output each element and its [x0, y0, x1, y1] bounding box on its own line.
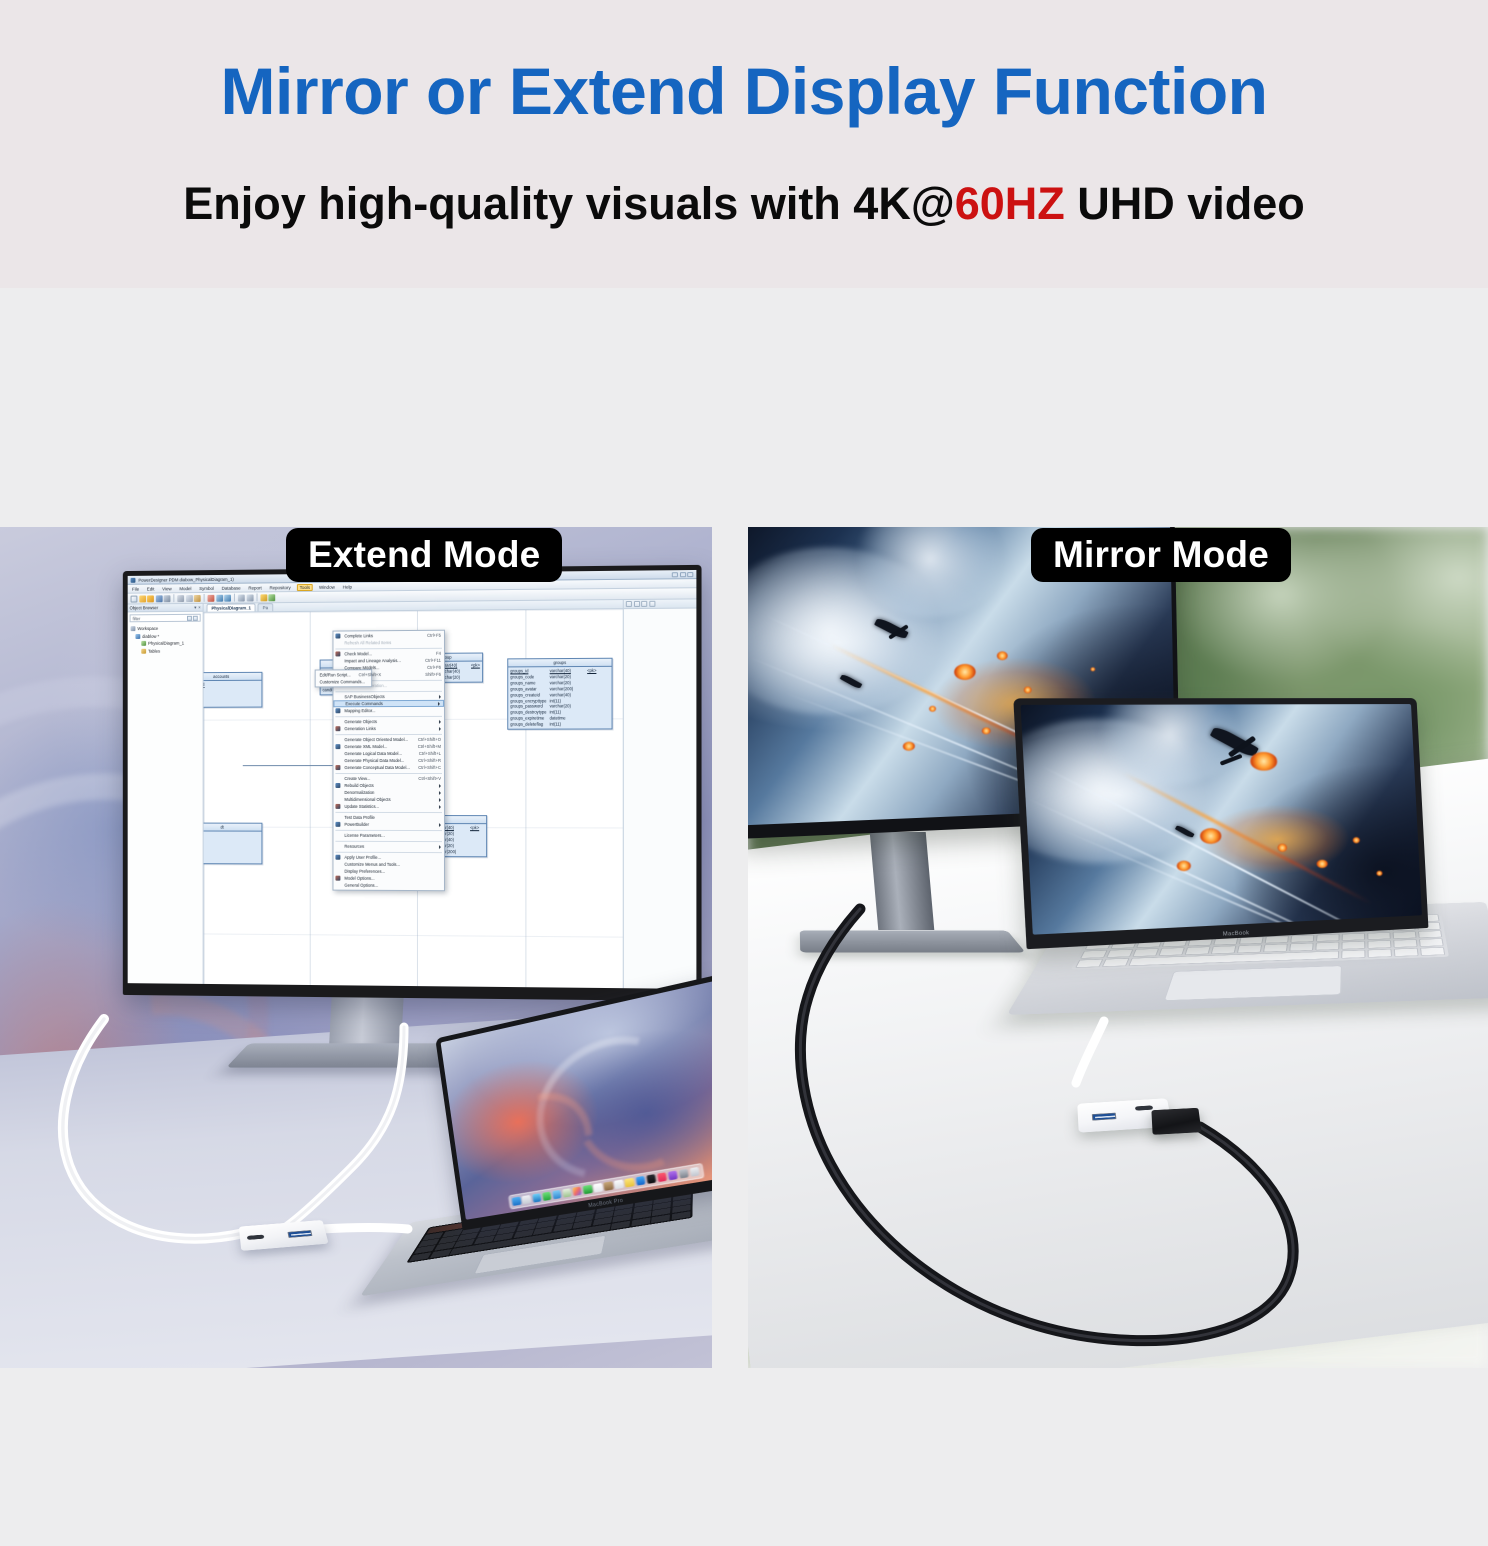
- messages-icon[interactable]: [542, 1191, 552, 1201]
- filter-placeholder: filter: [133, 616, 141, 621]
- redo-icon[interactable]: [224, 594, 231, 601]
- laptop-lid-right: MacBook: [1013, 698, 1428, 949]
- key: [1341, 950, 1366, 959]
- diagram-icon: [141, 641, 146, 646]
- key: [1184, 947, 1211, 955]
- key: [1367, 940, 1392, 948]
- entity-columns: groups_idvarchar(40)<pk> groups_codevarc…: [508, 667, 611, 729]
- tab-physicaldiagram-1[interactable]: PhysicalDiagram_1: [207, 603, 256, 611]
- menu-item-shortcut: Shift+F6: [417, 672, 441, 677]
- calendar-icon[interactable]: [593, 1183, 603, 1193]
- diagram-canvas[interactable]: accounts accounts_id accounts accounts a…: [204, 609, 623, 988]
- right-monitor-base: [800, 930, 1026, 952]
- key: [1237, 945, 1263, 953]
- submenu-item-label: Edit/Run Script...: [320, 672, 351, 677]
- explosion-8: [903, 742, 915, 751]
- explosion-7: [1090, 667, 1095, 671]
- explosion-2: [997, 652, 1008, 661]
- explosion-4: [1278, 844, 1288, 853]
- menu-item-label: Generation Links: [344, 726, 375, 731]
- submenu-arrow-icon: [439, 694, 441, 698]
- menu-item-label: Execute Commands: [345, 701, 382, 706]
- right-monitor-stand: [870, 832, 935, 930]
- menu-item-shortcut: Ctrl+F5: [419, 633, 441, 638]
- key: [1263, 944, 1288, 952]
- photos-icon[interactable]: [572, 1186, 582, 1196]
- key: [1158, 948, 1185, 956]
- app-body: Object Browser ▾ × filter: [128, 599, 697, 989]
- key: [1106, 949, 1134, 957]
- external-monitor-left: PowerDesigner PDM diabow_PhysicalDiagram…: [123, 565, 702, 1001]
- explosion-3: [1177, 860, 1192, 871]
- menu-item-shortcut: Ctrl+Shift+O: [410, 737, 441, 742]
- tables-folder-icon: [141, 648, 146, 653]
- new-icon[interactable]: [131, 595, 138, 602]
- menu-item-label: Check Model...: [344, 651, 372, 656]
- menu-item-icon: [335, 783, 340, 788]
- save-icon[interactable]: [147, 595, 154, 602]
- tab-secondary[interactable]: Pa: [258, 603, 273, 611]
- menu-item-label: Display Preferences...: [344, 869, 385, 874]
- menu-item-label: Denormalization: [344, 790, 374, 795]
- laptop-brand-label: MacBook: [1223, 930, 1250, 938]
- tree-item-model[interactable]: diablow *: [131, 633, 200, 638]
- menu-item-label: Generate Physical Data Model...: [344, 758, 404, 763]
- extend-mode-badge: Extend Mode: [286, 528, 562, 582]
- key: [1316, 934, 1340, 942]
- menu-item-label: Multidimensional Objects: [344, 797, 390, 802]
- menu-item-license-parameters[interactable]: License Parameters...: [333, 832, 444, 839]
- menu-separator: [335, 647, 442, 649]
- key: [1080, 950, 1108, 958]
- hdmi-connector-plug: [1151, 1108, 1201, 1135]
- menu-item-icon: [335, 651, 340, 656]
- menu-item-mapping-editor[interactable]: Mapping Editor...: [333, 707, 444, 714]
- key: [1341, 941, 1365, 949]
- menu-database[interactable]: Database: [220, 584, 242, 591]
- filter-refresh-icon[interactable]: [193, 615, 198, 620]
- launchpad-icon[interactable]: [522, 1195, 532, 1205]
- menu-separator: [335, 772, 442, 773]
- object-tree[interactable]: Workspace diablow * PhysicalDiagram_1: [128, 624, 203, 656]
- menu-item-label: Generate XML Model...: [344, 744, 387, 749]
- diagram-palette-pane: [623, 599, 697, 989]
- maximize-icon[interactable]: [679, 572, 685, 577]
- podcasts-icon[interactable]: [668, 1170, 679, 1181]
- undo-icon[interactable]: [216, 594, 223, 601]
- cut-icon[interactable]: [177, 595, 184, 602]
- explosion-7: [1376, 870, 1382, 875]
- menu-item-generation-links[interactable]: Generation Links: [333, 725, 444, 732]
- key: [1075, 959, 1104, 968]
- menu-item-shortcut: F4: [428, 651, 441, 656]
- object-browser-pane: Object Browser ▾ × filter: [128, 604, 204, 984]
- toolbar-divider-2: [204, 594, 205, 602]
- menu-item-label: Generate Conceptual Data Model...: [344, 765, 410, 770]
- menu-item-resources[interactable]: Resources: [333, 843, 444, 850]
- close-pane-icon[interactable]: ×: [198, 604, 200, 610]
- tree-item-tables[interactable]: Tables: [131, 648, 200, 653]
- menu-file[interactable]: File: [131, 585, 141, 592]
- palette-table-icon[interactable]: [633, 601, 639, 607]
- menu-item-shortcut: Ctrl+Shift+L: [411, 751, 441, 756]
- menu-report[interactable]: Report: [247, 584, 263, 591]
- filter-buttons[interactable]: [187, 615, 198, 620]
- entity-title: dt: [204, 824, 262, 832]
- entity-column-row: dt_list: [204, 856, 260, 862]
- appletv-icon[interactable]: [646, 1174, 656, 1184]
- explosion-2: [1199, 828, 1221, 844]
- save-all-icon[interactable]: [155, 595, 162, 602]
- entity-groups[interactable]: groups groups_idvarchar(40)<pk> groups_c…: [507, 658, 612, 730]
- palette-pointer-icon[interactable]: [626, 601, 632, 607]
- header-banner: Mirror or Extend Display Function Enjoy …: [0, 0, 1488, 288]
- menu-item-rebuild-objects[interactable]: Rebuild Objects: [333, 782, 444, 789]
- menu-item-shortcut: Ctrl+F6: [419, 665, 441, 670]
- tree-item-diagram[interactable]: PhysicalDiagram_1: [131, 640, 200, 645]
- menu-item-powerbuilder[interactable]: PowerBuilder: [333, 821, 444, 828]
- menu-item-icon: [335, 855, 340, 860]
- key: [1392, 931, 1416, 939]
- explosion-5: [929, 706, 936, 712]
- browser-filter-input[interactable]: filter: [130, 614, 201, 622]
- menu-symbol[interactable]: Symbol: [198, 584, 216, 591]
- safari-icon[interactable]: [532, 1193, 542, 1203]
- menu-item-label: Generate Object Oriented Model...: [344, 737, 408, 742]
- finder-icon[interactable]: [512, 1196, 522, 1206]
- maps-icon[interactable]: [562, 1188, 572, 1198]
- laptop-screen-right: [1021, 704, 1422, 935]
- menu-item-generate-conceptual-data-model[interactable]: Generate Conceptual Data Model...Ctrl+Sh…: [333, 764, 444, 771]
- appstore-icon[interactable]: [635, 1176, 645, 1186]
- menu-item-icon: [335, 726, 340, 731]
- palette-view-icon[interactable]: [649, 601, 655, 607]
- menu-item-label: Update Statistics...: [344, 804, 379, 809]
- menu-item-label: Generate Objects: [344, 719, 377, 724]
- key: [1393, 948, 1418, 957]
- menu-item-create-view[interactable]: Create View...Ctrl+Shift+V: [333, 775, 444, 782]
- open-icon[interactable]: [139, 595, 146, 602]
- generate-icon[interactable]: [260, 594, 267, 601]
- explosion-3: [1023, 686, 1031, 693]
- usb-a-port-icon: [1092, 1113, 1117, 1121]
- usb-c-port-icon: [247, 1235, 265, 1240]
- submenu-arrow-icon: [439, 798, 441, 802]
- close-icon[interactable]: [687, 572, 693, 577]
- submenu-arrow-icon: [439, 791, 441, 795]
- menu-item-shortcut: Ctrl+F11: [417, 658, 441, 663]
- menu-tools[interactable]: Tools: [297, 583, 312, 590]
- toolbar-divider-1: [173, 594, 174, 602]
- menu-item-shortcut: Ctrl+Shift+C: [410, 765, 441, 770]
- menu-separator: [335, 840, 442, 841]
- facetime-icon[interactable]: [583, 1185, 593, 1195]
- menu-item-label: Create View...: [344, 776, 370, 781]
- tree-item-workspace[interactable]: Workspace: [131, 626, 200, 631]
- system-preferences-icon[interactable]: [679, 1169, 690, 1180]
- entity-column-row: accounts: [204, 699, 260, 705]
- subtitle-part-3: UHD video: [1065, 178, 1305, 229]
- key: [1367, 949, 1392, 958]
- pin-icon[interactable]: ▾: [194, 604, 196, 610]
- zoom-in-icon[interactable]: [238, 594, 245, 601]
- menu-item-denormalization[interactable]: Denormalization: [333, 789, 444, 796]
- submenu-item-shortcut: Ctrl+Shift+X: [351, 672, 381, 677]
- mail-icon[interactable]: [552, 1190, 562, 1200]
- check-model-icon[interactable]: [268, 594, 275, 601]
- delete-icon[interactable]: [208, 594, 215, 601]
- entity-dt[interactable]: dt dt_id dt_uid dt_user dt_code dt_list: [204, 823, 263, 864]
- menu-item-icon: [335, 822, 340, 827]
- menu-item-label: SAP BusinessObjects: [344, 694, 384, 699]
- app-logo-icon: [131, 577, 136, 582]
- submenu-arrow-icon: [439, 805, 441, 809]
- explosion-1: [1250, 752, 1278, 771]
- model-icon: [135, 634, 140, 639]
- macbook-right: MacBook: [1041, 695, 1488, 1141]
- palette-reference-icon[interactable]: [641, 601, 647, 607]
- powerdesigner-window: PowerDesigner PDM diabow_PhysicalDiagram…: [128, 570, 697, 989]
- extend-mode-panel: PowerDesigner PDM diabow_PhysicalDiagram…: [0, 527, 712, 1368]
- menu-item-general-options[interactable]: General Options...: [333, 882, 444, 890]
- menu-item-label: Refresh All Related Items: [344, 640, 391, 645]
- submenu-arrow-icon: [439, 719, 441, 723]
- menu-separator: [335, 690, 442, 691]
- tree-label: Workspace: [137, 626, 158, 631]
- tree-label: PhysicalDiagram_1: [148, 641, 184, 646]
- entity-columns: accounts_id accounts accounts accounts: [204, 681, 262, 707]
- menu-item-icon: [335, 765, 340, 770]
- explosion-6: [981, 728, 990, 735]
- mirror-mode-badge: Mirror Mode: [1031, 528, 1291, 582]
- explosion-1: [954, 664, 976, 680]
- menu-item-label: Apply User Profile...: [344, 855, 381, 860]
- object-browser-header: Object Browser ▾ ×: [128, 604, 203, 613]
- subtitle-part-1: Enjoy high-quality visuals with 4K@: [183, 178, 954, 229]
- key: [1289, 943, 1314, 951]
- palette-toolbar[interactable]: [624, 599, 697, 609]
- menu-item-icon: [335, 744, 340, 749]
- key: [1418, 939, 1443, 947]
- menu-item-shortcut: Ctrl+Shift+R: [410, 758, 441, 763]
- page-subtitle: Enjoy high-quality visuals with 4K@60HZ …: [0, 179, 1488, 229]
- subtitle-refresh-rate: 60HZ: [955, 178, 1065, 229]
- key: [1210, 946, 1236, 954]
- menu-item-icon: [335, 804, 340, 809]
- key: [1393, 939, 1418, 947]
- trash-icon[interactable]: [690, 1167, 701, 1178]
- usb-c-port-icon: [1135, 1105, 1153, 1110]
- menu-separator: [335, 715, 442, 716]
- minimize-icon[interactable]: [672, 572, 678, 577]
- toolbar-divider-4: [256, 593, 257, 601]
- workspace-icon: [131, 626, 136, 631]
- menu-item-label: Customize Menus and Tools...: [344, 862, 400, 867]
- menu-separator: [335, 811, 442, 812]
- print-icon[interactable]: [164, 595, 171, 602]
- menu-item-label: PowerBuilder: [344, 822, 369, 827]
- menu-item-label: Model Options...: [344, 876, 374, 881]
- menu-separator: [335, 829, 442, 830]
- usb-a-port-icon: [287, 1230, 312, 1238]
- entity-columns: dt_id dt_uid dt_user dt_code dt_list: [204, 831, 262, 863]
- tree-label: diablow *: [142, 633, 159, 638]
- menu-item-label: Mapping Editor...: [344, 708, 375, 713]
- submenu-item-label: Customize Commands...: [320, 679, 365, 684]
- key: [1420, 947, 1446, 956]
- trackpad-right[interactable]: [1164, 965, 1342, 1001]
- menu-item-label: Generate Logical Data Model...: [344, 751, 402, 756]
- key: [1341, 933, 1365, 941]
- notes-icon[interactable]: [625, 1178, 635, 1188]
- menu-edit[interactable]: Edit: [145, 585, 155, 592]
- app-window-title: PowerDesigner PDM diabow_PhysicalDiagram…: [138, 576, 233, 582]
- menu-item-label: Resources: [344, 844, 364, 849]
- menu-item-icon: [335, 876, 340, 881]
- menu-item-icon: [335, 708, 340, 713]
- submenu-arrow-icon: [438, 701, 440, 705]
- key: [1290, 935, 1315, 943]
- contacts-icon[interactable]: [603, 1181, 613, 1191]
- submenu-arrow-icon: [439, 823, 441, 827]
- menu-separator: [335, 733, 442, 734]
- key: [1367, 932, 1391, 940]
- menu-item-label: License Parameters...: [344, 833, 384, 838]
- menu-item-label: Rebuild Objects: [344, 783, 373, 788]
- toolbar-divider-3: [234, 594, 235, 602]
- key: [1417, 930, 1442, 938]
- tree-label: Tables: [148, 648, 160, 653]
- menu-window[interactable]: Window: [317, 583, 336, 590]
- menu-repository[interactable]: Repository: [268, 584, 292, 591]
- menu-item-shortcut: Ctrl+Shift+V: [410, 776, 441, 781]
- menu-help[interactable]: Help: [341, 583, 353, 590]
- entity-column-row: groups_deleteflagint(11): [510, 722, 609, 728]
- menu-item-update-statistics[interactable]: Update Statistics...: [333, 803, 444, 810]
- menu-separator: [335, 851, 442, 852]
- execute-commands-submenu[interactable]: Edit/Run Script...Ctrl+Shift+XCustomize …: [315, 669, 372, 687]
- page-title: Mirror or Extend Display Function: [0, 57, 1488, 127]
- macbook-pro-left: MacBook Pro: [383, 993, 712, 1341]
- key: [1264, 936, 1289, 944]
- paste-icon[interactable]: [194, 594, 201, 601]
- key: [1102, 958, 1130, 967]
- music-icon[interactable]: [657, 1172, 668, 1182]
- submenu-arrow-icon: [439, 726, 441, 730]
- product-feature-graphic: Mirror or Extend Display Function Enjoy …: [0, 0, 1488, 1546]
- diagram-area: PhysicalDiagram_1 Pa accounts: [204, 600, 623, 988]
- filter-apply-icon[interactable]: [187, 615, 192, 620]
- menu-item-label: General Options...: [344, 883, 378, 888]
- menu-item-icon: [335, 634, 340, 639]
- mirror-mode-panel: MacBook: [748, 527, 1488, 1368]
- object-browser-title: Object Browser: [130, 605, 159, 610]
- external-monitor-screen-left: PowerDesigner PDM diabow_PhysicalDiagram…: [128, 570, 697, 989]
- menu-item-label: Test Data Profile: [344, 815, 375, 820]
- reminders-icon[interactable]: [614, 1179, 624, 1189]
- submenu-item-customize-commands[interactable]: Customize Commands...: [316, 678, 372, 685]
- explosion-6: [1352, 837, 1359, 843]
- browser-pane-controls[interactable]: ▾ ×: [194, 604, 201, 610]
- copy-icon[interactable]: [186, 595, 193, 602]
- menu-item-label: Impact and Lineage Analysis...: [344, 658, 400, 663]
- key: [1315, 942, 1340, 950]
- menu-model[interactable]: Model: [178, 585, 193, 592]
- menu-item-refresh-all-related-items: Refresh All Related Items: [333, 639, 444, 647]
- entity-accounts[interactable]: accounts accounts_id accounts accounts a…: [204, 672, 263, 708]
- menu-item-label: Complete Links: [344, 633, 373, 638]
- menu-item-shortcut: Ctrl+Shift+M: [410, 744, 441, 749]
- menu-view[interactable]: View: [161, 585, 173, 592]
- key: [1132, 948, 1159, 956]
- submenu-arrow-icon: [439, 845, 441, 849]
- submenu-arrow-icon: [439, 784, 441, 788]
- window-controls: [672, 572, 694, 577]
- zoom-out-icon[interactable]: [246, 594, 253, 601]
- explosion-5: [1316, 859, 1328, 868]
